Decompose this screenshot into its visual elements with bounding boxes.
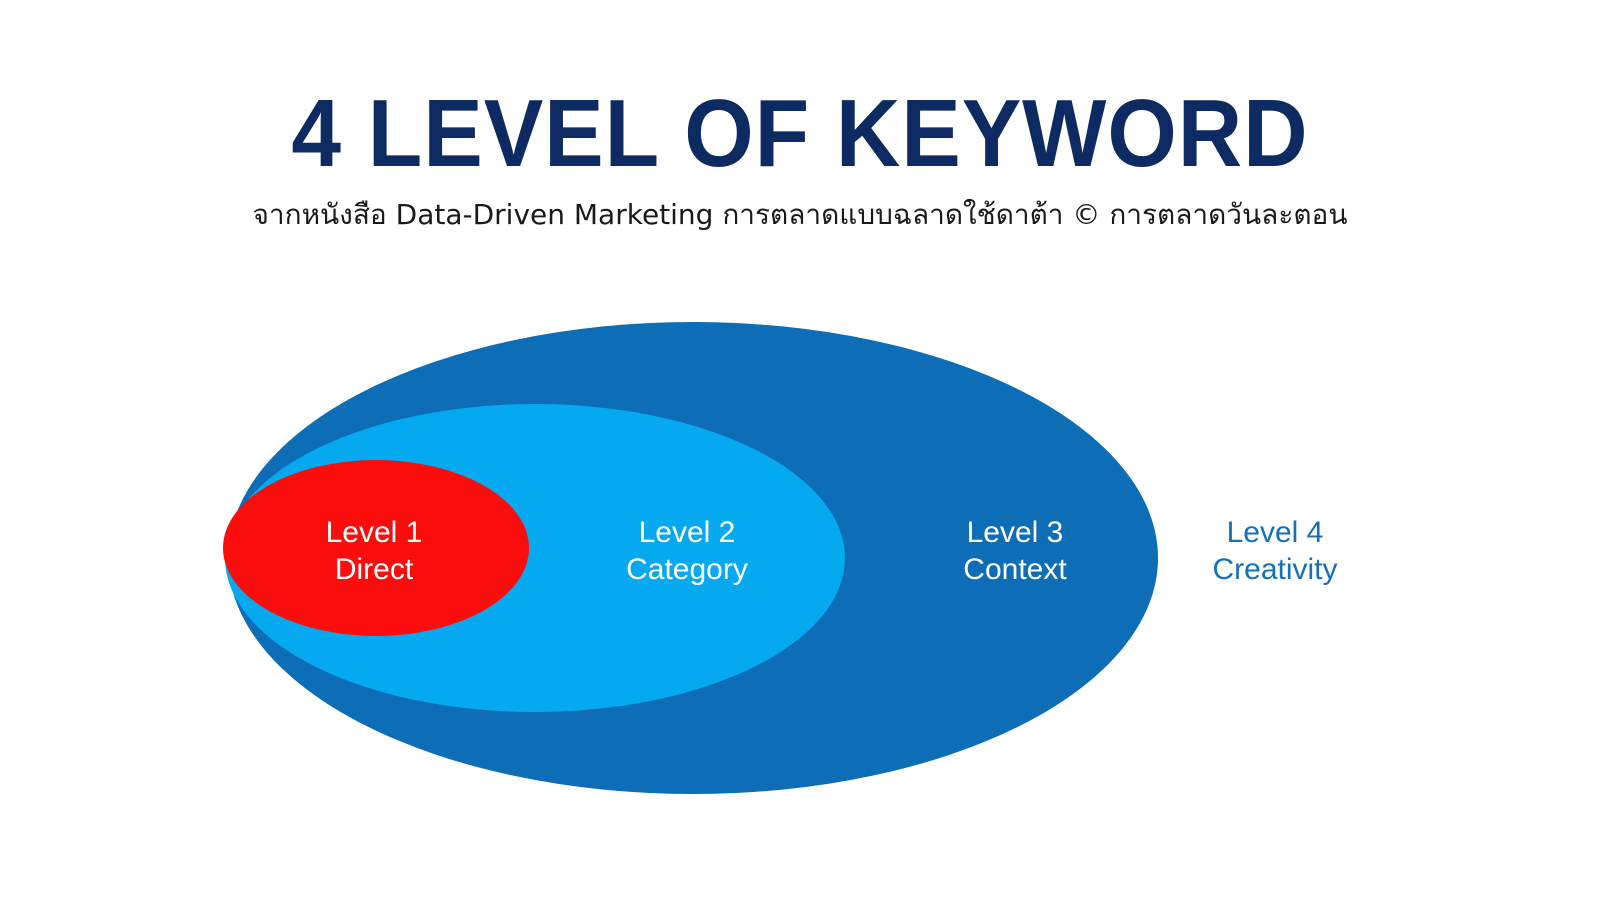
venn-ellipses-svg	[0, 260, 1600, 880]
page-subtitle: จากหนังสือ Data-Driven Marketing การตลาด…	[0, 198, 1600, 232]
poster-canvas: 4 LEVEL OF KEYWORD จากหนังสือ Data-Drive…	[0, 0, 1600, 900]
venn-diagram: Level 1 Direct Level 2 Category Level 3 …	[0, 260, 1600, 880]
ellipse-level-1-direct[interactable]	[223, 460, 529, 636]
page-title: 4 LEVEL OF KEYWORD	[56, 86, 1544, 182]
